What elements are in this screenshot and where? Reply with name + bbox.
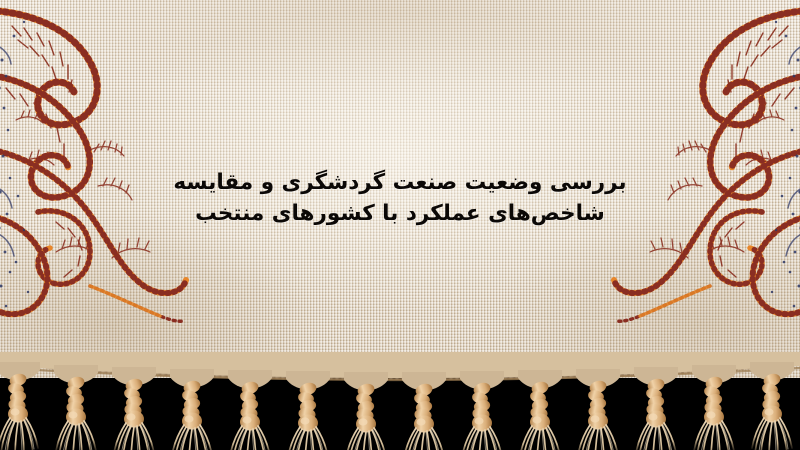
slide-title: بررسی وضعیت صنعت گردشگری و مقایسه شاخص‌ه… (0, 168, 800, 229)
slide-title-line-2: شاخص‌های عملکرد با کشورهای منتخب (0, 199, 800, 230)
tassel-fringe (0, 352, 800, 450)
slide-title-line-1: بررسی وضعیت صنعت گردشگری و مقایسه (0, 168, 800, 199)
title-slide: بررسی وضعیت صنعت گردشگری و مقایسه شاخص‌ه… (0, 0, 800, 450)
